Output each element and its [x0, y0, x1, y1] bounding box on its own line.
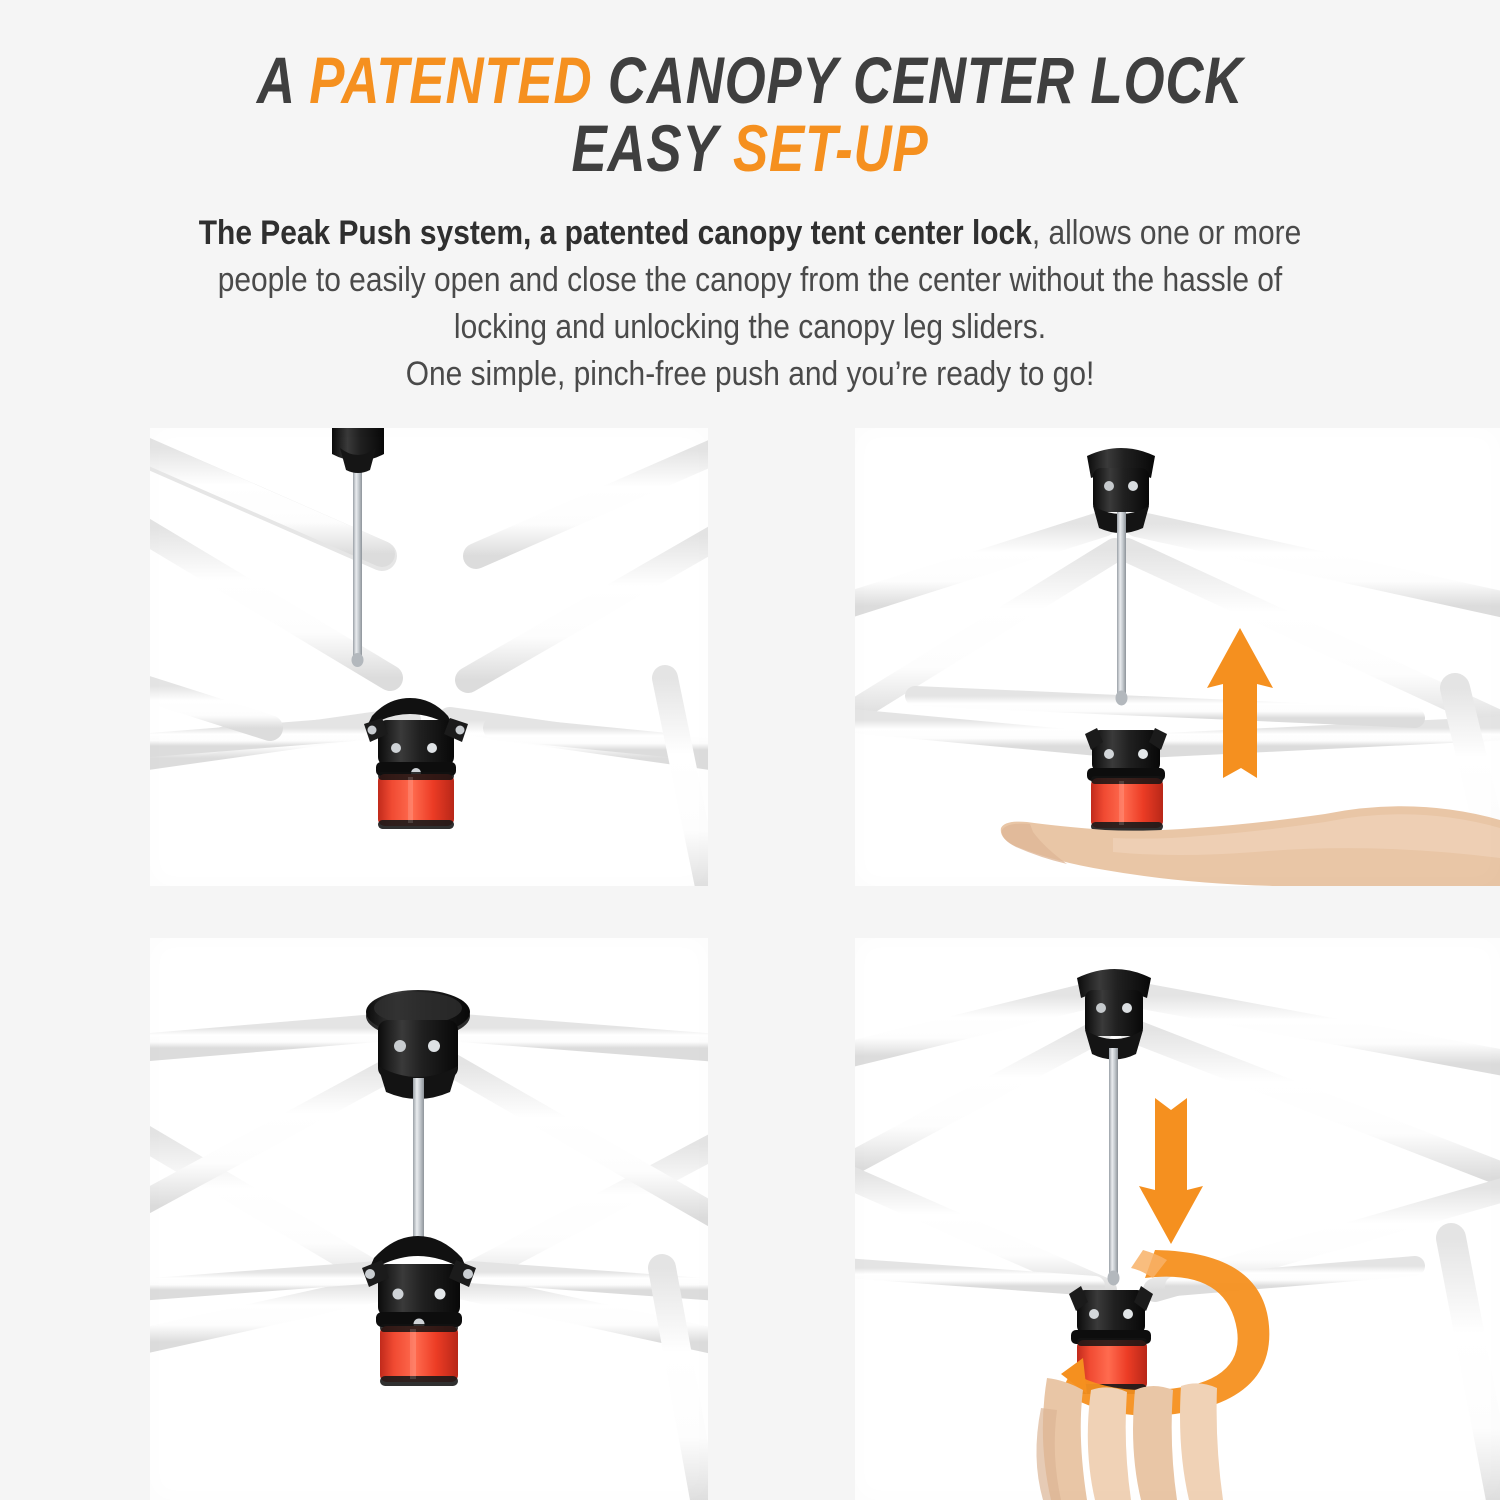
description-line-4: One simple, pinch-free push and you’re r… — [174, 351, 1327, 398]
peak-cap-partial — [332, 428, 384, 473]
push-rod — [1116, 512, 1128, 706]
description-line-3: locking and unlocking the canopy leg sli… — [174, 304, 1327, 351]
panel-collapsed-frame — [150, 428, 708, 886]
headline-text-c: EASY — [571, 111, 732, 185]
red-release-knob — [380, 1324, 458, 1386]
supporting-hand — [1001, 806, 1500, 886]
description-paragraph: The Peak Push system, a patented canopy … — [174, 210, 1327, 398]
description-line-1: The Peak Push system, a patented canopy … — [174, 210, 1327, 257]
description-bold-lead: The Peak Push system, a patented canopy … — [199, 214, 1032, 252]
panel-twist-release — [855, 938, 1500, 1500]
headline-line-2: EASY SET-UP — [150, 114, 1350, 182]
lower-arrow — [1139, 1098, 1203, 1244]
description-line-2: people to easily open and close the cano… — [174, 257, 1327, 304]
center-lock-hub — [1085, 728, 1167, 781]
headline-line-1: A PATENTED CANOPY CENTER LOCK — [150, 46, 1350, 114]
headline-text-a: A — [257, 43, 309, 117]
red-release-knob — [1091, 776, 1163, 831]
infographic-page: A PATENTED CANOPY CENTER LOCK EASY SET-U… — [0, 0, 1500, 1500]
headline-highlight-patented: PATENTED — [309, 43, 592, 117]
headline-text-b: CANOPY CENTER LOCK — [592, 43, 1243, 117]
header-block: A PATENTED CANOPY CENTER LOCK EASY SET-U… — [0, 0, 1500, 398]
red-release-knob — [378, 772, 454, 829]
push-rod — [413, 1078, 424, 1248]
headline-highlight-setup: SET-UP — [733, 111, 929, 185]
canopy-frame-tubes — [855, 996, 1500, 1500]
center-lock-hub — [362, 1236, 476, 1330]
panel-push-up — [855, 428, 1500, 886]
center-lock-hub — [1069, 1286, 1153, 1344]
description-line-1-rest: , allows one or more — [1032, 214, 1301, 252]
panel-locked-open — [150, 938, 708, 1500]
push-rod — [1108, 1048, 1120, 1286]
panel-grid — [0, 428, 1500, 1500]
